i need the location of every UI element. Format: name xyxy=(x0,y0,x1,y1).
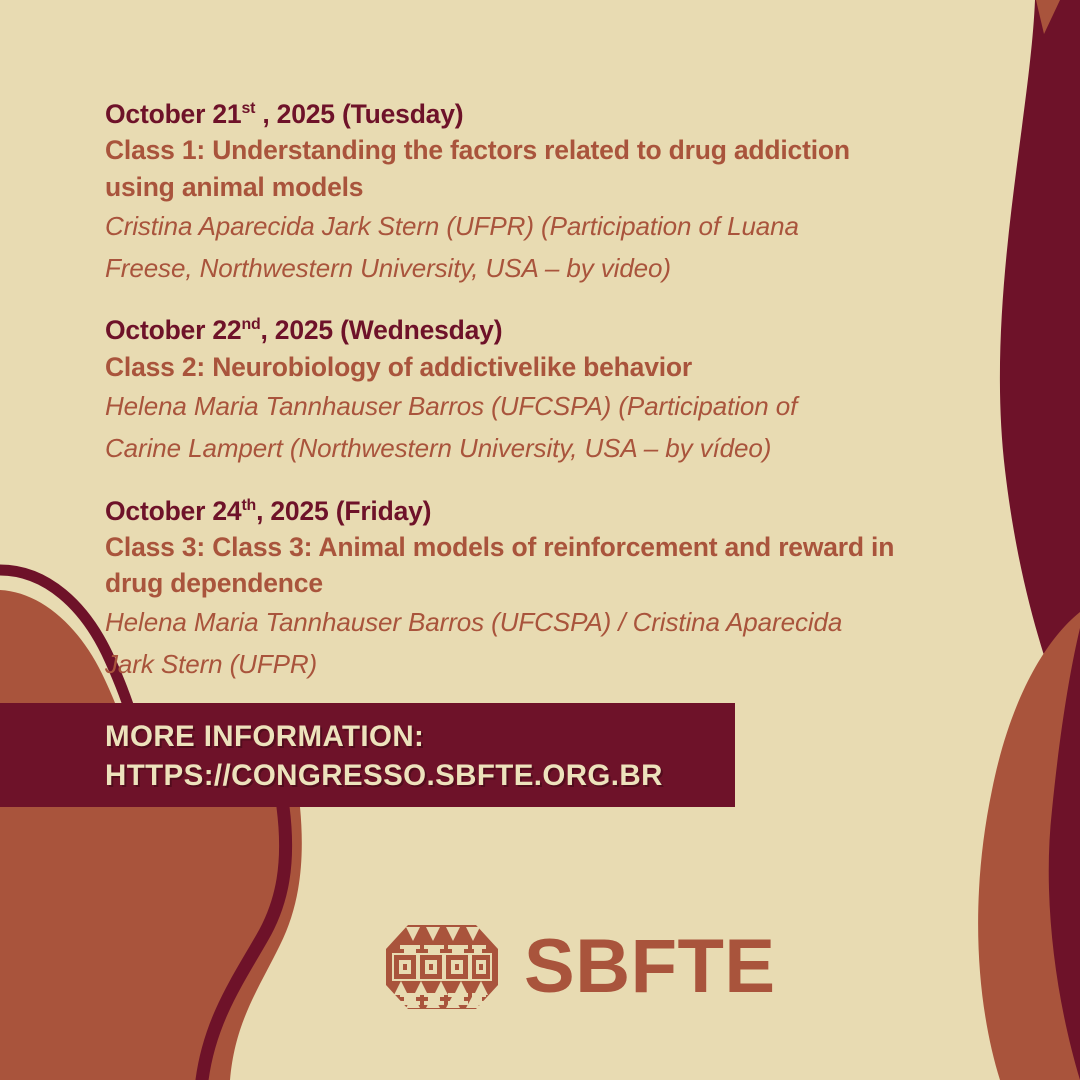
schedule-date-heading: October 24th, 2025 (Friday) xyxy=(105,493,995,529)
poster-canvas: October 21st , 2025 (Tuesday) Class 1: U… xyxy=(0,0,1080,1080)
schedule-date-ordinal: st xyxy=(241,100,255,117)
schedule-speaker-line: Helena Maria Tannhauser Barros (UFCSPA) … xyxy=(105,603,995,643)
schedule-speaker-line: Freese, Northwestern University, USA – b… xyxy=(105,249,995,289)
top-right-terracotta-sliver-shape xyxy=(1036,0,1060,34)
schedule-date-prefix: October 21 xyxy=(105,99,241,129)
schedule-date-heading: October 21st , 2025 (Tuesday) xyxy=(105,96,995,132)
bottom-left-maroon-curve-stroke xyxy=(202,807,286,1080)
right-maroon-ribbon-lower-shape xyxy=(1022,640,1080,1080)
sbfte-logo: SBFTE xyxy=(378,915,776,1019)
schedule-date-ordinal: nd xyxy=(241,317,260,334)
schedule-class-line: using animal models xyxy=(105,169,995,205)
more-information-label: MORE INFORMATION: xyxy=(105,717,735,756)
schedule-date-suffix: , 2025 (Friday) xyxy=(256,496,431,526)
schedule-list: October 21st , 2025 (Tuesday) Class 1: U… xyxy=(105,96,995,685)
schedule-speaker-line: Cristina Aparecida Jark Stern (UFPR) (Pa… xyxy=(105,207,995,247)
schedule-block: October 22nd, 2025 (Wednesday) Class 2: … xyxy=(105,312,995,468)
schedule-date-heading: October 22nd, 2025 (Wednesday) xyxy=(105,312,995,348)
schedule-block: October 24th, 2025 (Friday) Class 3: Cla… xyxy=(105,493,995,685)
congress-url-link[interactable]: HTTPS://CONGRESSO.SBFTE.ORG.BR xyxy=(105,756,735,795)
schedule-date-suffix: , 2025 (Wednesday) xyxy=(260,315,502,345)
schedule-speaker-line: Carine Lampert (Northwestern University,… xyxy=(105,429,995,469)
schedule-date-prefix: October 22 xyxy=(105,315,241,345)
schedule-class-line: drug dependence xyxy=(105,565,995,601)
schedule-class-line: Class 1: Understanding the factors relat… xyxy=(105,132,995,168)
schedule-class-line: Class 3: Class 3: Animal models of reinf… xyxy=(105,529,995,565)
more-information-banner: MORE INFORMATION: HTTPS://CONGRESSO.SBFT… xyxy=(0,703,735,807)
schedule-date-prefix: October 24 xyxy=(105,496,241,526)
schedule-date-ordinal: th xyxy=(241,497,256,514)
schedule-class-line: Class 2: Neurobiology of addictivelike b… xyxy=(105,349,995,385)
sbfte-wordmark: SBFTE xyxy=(524,929,776,1005)
schedule-block: October 21st , 2025 (Tuesday) Class 1: U… xyxy=(105,96,995,288)
schedule-date-suffix: , 2025 (Tuesday) xyxy=(255,99,463,129)
schedule-speaker-line: Helena Maria Tannhauser Barros (UFCSPA) … xyxy=(105,387,995,427)
sbfte-geometric-emblem-icon xyxy=(378,915,506,1019)
bottom-left-terracotta-shape xyxy=(0,807,302,1080)
emblem-concentric-square-band xyxy=(392,953,492,981)
right-maroon-ribbon-shape xyxy=(1000,0,1080,760)
schedule-speaker-line: Jark Stern (UFPR) xyxy=(105,645,995,685)
